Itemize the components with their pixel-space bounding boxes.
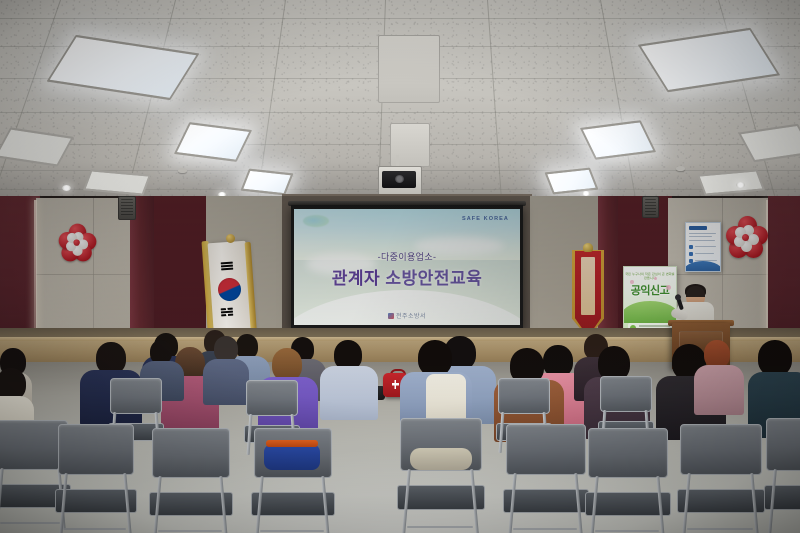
chair-backrest (680, 424, 762, 475)
wall-information-poster (685, 222, 721, 272)
poster-heading-bar (689, 226, 707, 230)
bag-on-chair (264, 444, 320, 470)
folding-chair[interactable] (400, 418, 480, 533)
chair-seat (764, 485, 800, 510)
trigram-icon (221, 308, 234, 318)
folding-chair[interactable] (680, 424, 760, 533)
ceiling-downlight (736, 182, 745, 188)
folding-chair[interactable] (588, 428, 666, 533)
chair-backrest (58, 424, 134, 475)
slide-title-part2: 소방안전교육 (385, 269, 482, 288)
folding-chair[interactable] (152, 428, 228, 533)
trigram-icon (221, 262, 234, 272)
auditorium-photo: SAFE KOREA -다중이용업소- 관계자 소방안전교육 전주소방서 (0, 0, 800, 533)
chair-backrest (246, 380, 298, 416)
slide-subtitle: -다중이용업소- (294, 250, 520, 263)
flag-finial-icon (226, 234, 235, 243)
slide-title: 관계자 소방안전교육 (294, 264, 520, 289)
folding-chair[interactable] (0, 420, 66, 530)
slide-footer-org: 전주소방서 (294, 311, 520, 320)
folding-chair[interactable] (58, 424, 132, 533)
wall-speaker (118, 196, 136, 220)
ceremonial-organization-flag (571, 247, 605, 339)
slide-surface: SAFE KOREA -다중이용업소- 관계자 소방안전교육 전주소방서 (294, 209, 520, 325)
ceiling-smoke-detector (676, 166, 685, 171)
bag-strap (266, 440, 318, 447)
chair-backrest (498, 378, 550, 414)
projector-lens-icon (395, 175, 404, 183)
chair-backrest (506, 424, 586, 475)
balloon-flower-decoration-right (726, 216, 768, 258)
chair-backrest (152, 428, 230, 478)
slide-title-part1: 관계자 (332, 269, 380, 288)
balloon-flower-decoration-left (59, 224, 98, 263)
flag-finial-icon (583, 243, 593, 252)
slide-logo-badge (303, 215, 329, 227)
folding-chair[interactable] (766, 418, 800, 533)
projection-screen: SAFE KOREA -다중이용업소- 관계자 소방안전교육 전주소방서 (291, 205, 523, 329)
chair-backrest (600, 376, 652, 412)
ceiling-vent (378, 35, 440, 103)
chair-backrest (588, 428, 668, 478)
ceiling (0, 0, 800, 205)
banner-kicker: 국민 누구나의 작은 관심이 큰 변화를 만듭니다 (624, 272, 676, 280)
ceiling-light-panel (241, 169, 294, 196)
poster-footer-wave (685, 261, 721, 272)
slide-footer-text: 전주소방서 (396, 314, 426, 320)
wall-speaker (642, 196, 659, 218)
slide-brand-text: SAFE KOREA (462, 216, 509, 222)
ceremonial-flag-inscription (581, 257, 595, 315)
bag-on-chair (410, 448, 472, 470)
folding-chair[interactable] (506, 424, 584, 533)
ceiling-downlight (62, 185, 71, 191)
chair-backrest (110, 378, 162, 414)
fire-station-logo-icon (388, 313, 394, 319)
ceiling-smoke-detector (178, 168, 187, 173)
chair-backrest (766, 418, 800, 471)
